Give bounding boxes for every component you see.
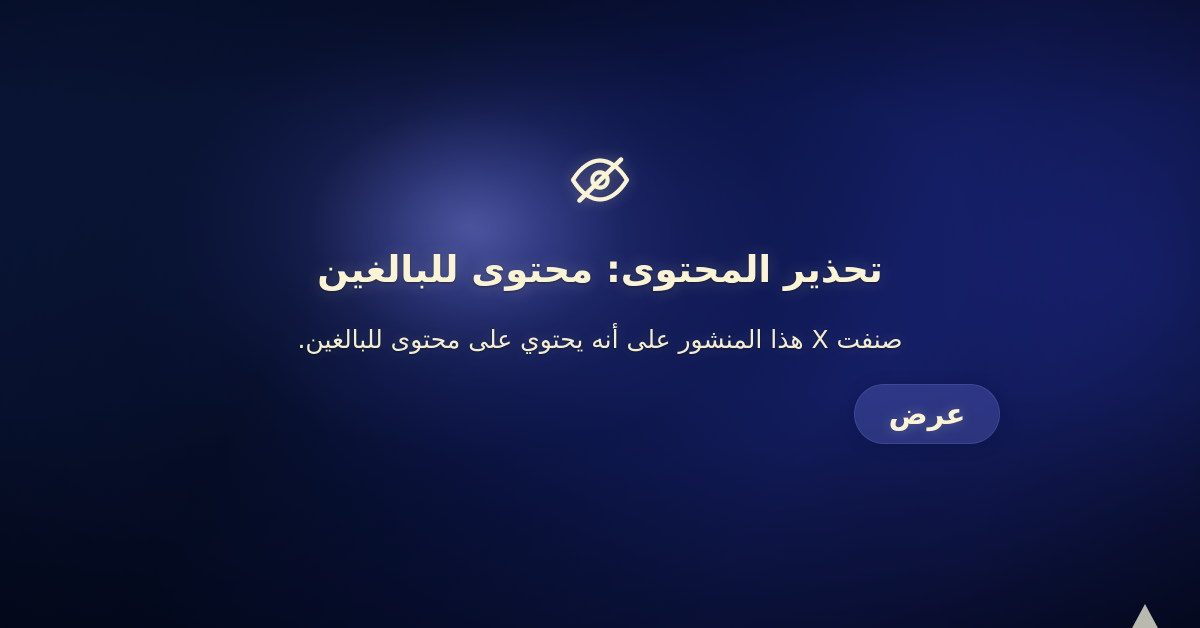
warning-title: تحذير المحتوى: محتوى للبالغين	[317, 246, 883, 295]
bottom-pointer-triangle	[1131, 604, 1159, 628]
view-content-button[interactable]: عرض	[854, 384, 1000, 444]
warning-description: صنفت X هذا المنشور على أنه يحتوي على محت…	[297, 321, 902, 358]
content-warning-overlay: تحذير المحتوى: محتوى للبالغين صنفت X هذا…	[0, 0, 1200, 628]
eye-off-icon	[564, 150, 636, 210]
action-row: عرض	[200, 384, 1000, 444]
warning-content-column: تحذير المحتوى: محتوى للبالغين صنفت X هذا…	[0, 0, 1200, 628]
